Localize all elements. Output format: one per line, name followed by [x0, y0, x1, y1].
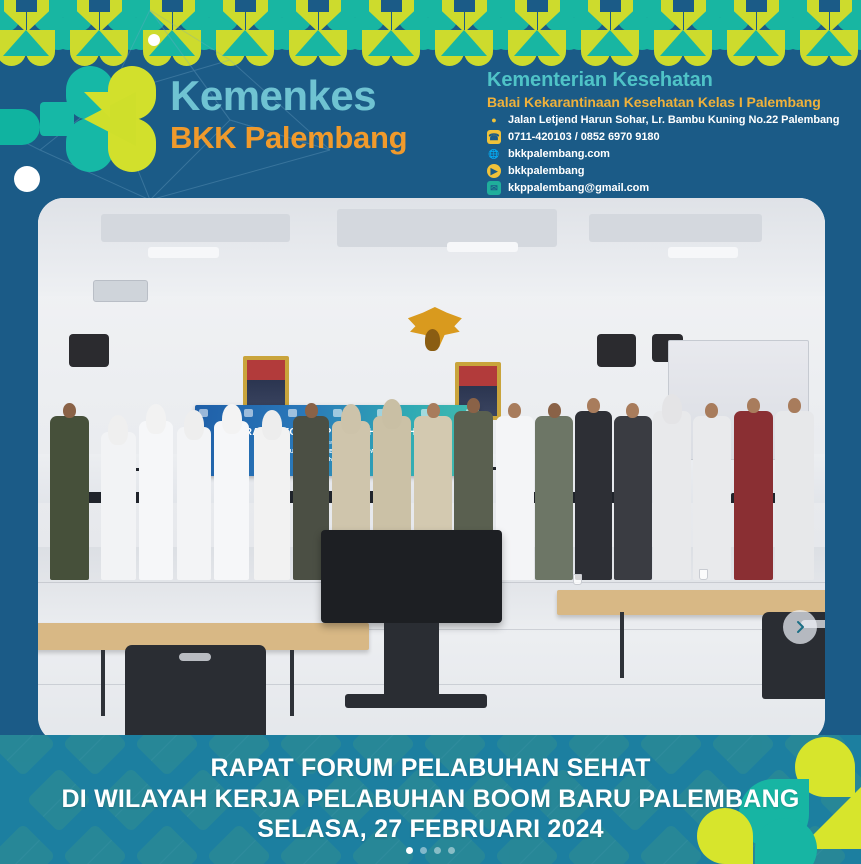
contact-row-address: ● Jalan Letjend Harun Sohar, Lr. Bambu K… — [487, 113, 857, 127]
network-dot — [14, 166, 40, 192]
ministry-name: Kementerian Kesehatan — [487, 68, 857, 92]
phone-text: 0711-420103 / 0852 6970 9180 — [508, 131, 660, 143]
monitor-stand-column — [384, 623, 439, 699]
attendee-hijab — [382, 399, 402, 429]
speaker-icon — [597, 334, 636, 367]
ac-unit — [93, 280, 148, 302]
tv-monitor — [321, 530, 502, 623]
attendee-head — [788, 398, 801, 413]
phone-icon: ☎ — [487, 130, 501, 144]
attendee — [653, 411, 691, 580]
address-text: Jalan Letjend Harun Sohar, Lr. Bambu Kun… — [508, 114, 839, 126]
table-leg — [620, 612, 624, 677]
garuda-body — [425, 329, 440, 351]
batik-petal-unit — [720, 0, 793, 66]
caption-line-2: DI WILAYAH KERJA PELABUHAN BOOM BARU PAL… — [0, 784, 861, 815]
header-section: Kemenkes BKK Palembang Kementerian Keseh… — [0, 0, 861, 198]
attendee-hijab — [662, 394, 682, 424]
brand-title: Kemenkes — [170, 72, 376, 120]
batik-petal-unit — [793, 0, 861, 66]
website-text[interactable]: bkkpalembang.com — [508, 148, 610, 160]
attendee-head — [508, 403, 521, 418]
attendee — [50, 416, 89, 580]
attendee — [775, 411, 814, 580]
attendee-head — [427, 403, 440, 418]
drinking-cup — [573, 574, 582, 585]
ceiling-light — [148, 247, 219, 258]
pagination-dot-3[interactable] — [434, 847, 441, 854]
ceiling-panel — [101, 214, 290, 241]
attendee-hijab — [146, 404, 166, 434]
pagination-dot-1[interactable] — [406, 847, 413, 854]
caption-text: RAPAT FORUM PELABUHAN SEHAT DI WILAYAH K… — [0, 753, 861, 845]
attendee — [254, 427, 290, 580]
attendee-hijab — [262, 410, 282, 440]
attendee — [693, 416, 731, 580]
ceiling-light — [447, 242, 518, 253]
attendee-hijab — [108, 415, 128, 445]
attendee — [214, 421, 249, 579]
caption-line-3: SELASA, 27 FEBRUARI 2024 — [0, 814, 861, 845]
attendee-head — [747, 398, 760, 413]
attendee-hijab — [184, 410, 204, 440]
attendee — [535, 416, 573, 580]
office-name: Balai Kekarantinaan Kesehatan Kelas I Pa… — [487, 94, 857, 110]
attendee-hijab — [222, 404, 242, 434]
carousel-pagination-dots[interactable] — [0, 847, 861, 854]
pagination-dot-2[interactable] — [420, 847, 427, 854]
contact-row-phone: ☎ 0711-420103 / 0852 6970 9180 — [487, 130, 857, 144]
attendee-head — [626, 403, 639, 418]
contact-block: Kementerian Kesehatan Balai Kekarantinaa… — [487, 68, 857, 195]
table-leg — [101, 650, 105, 715]
contact-row-youtube[interactable]: ▶ bkkpalembang — [487, 164, 857, 178]
ceiling-panel — [589, 214, 762, 241]
attendee-head — [548, 403, 561, 418]
attendee — [139, 421, 174, 579]
brand-logo-block: Kemenkes BKK Palembang — [62, 66, 462, 176]
ceiling-panel — [337, 209, 557, 247]
attendee — [575, 411, 613, 580]
mail-icon: ✉ — [487, 181, 501, 195]
event-photo[interactable]: RAPAT FORUM PELABUHAN SEHAT Dalam Rangka… — [38, 198, 825, 743]
poster-slide: Kemenkes BKK Palembang Kementerian Keseh… — [0, 0, 861, 864]
batik-petal-unit — [501, 0, 574, 66]
attendee-head — [305, 403, 318, 418]
table-leg — [290, 650, 294, 715]
batik-petal-unit — [574, 0, 647, 66]
pagination-dot-4[interactable] — [448, 847, 455, 854]
attendee-head — [705, 403, 718, 418]
youtube-text[interactable]: bkkpalembang — [508, 165, 584, 177]
attendee — [734, 411, 773, 580]
attendee-head — [467, 398, 480, 413]
attendee — [101, 432, 136, 579]
email-text[interactable]: kkppalembang@gmail.com — [508, 182, 649, 194]
attendee-head — [63, 403, 76, 418]
attendee-head — [587, 398, 600, 413]
location-pin-icon: ● — [487, 113, 501, 127]
contact-row-email[interactable]: ✉ kkppalembang@gmail.com — [487, 181, 857, 195]
globe-icon: 🌐 — [487, 147, 501, 161]
caption-line-1: RAPAT FORUM PELABUHAN SEHAT — [0, 753, 861, 784]
chevron-right-icon — [793, 620, 807, 634]
caption-band: RAPAT FORUM PELABUHAN SEHAT DI WILAYAH K… — [0, 735, 861, 864]
chair — [125, 645, 267, 738]
monitor-stand-base — [345, 694, 487, 708]
kemenkes-logo-icon — [62, 66, 160, 172]
speaker-icon — [69, 334, 108, 367]
carousel-next-button[interactable] — [783, 610, 817, 644]
batik-petal-unit — [647, 0, 720, 66]
ceiling-light — [668, 247, 739, 258]
network-dot — [148, 34, 160, 46]
teal-tab-decoration — [0, 109, 40, 145]
drinking-cup — [699, 569, 708, 580]
attendee — [177, 427, 212, 580]
attendee — [614, 416, 652, 580]
play-icon: ▶ — [487, 164, 501, 178]
attendee-hijab — [341, 404, 361, 434]
brand-subtitle: BKK Palembang — [170, 120, 407, 156]
contact-row-website[interactable]: 🌐 bkkpalembang.com — [487, 147, 857, 161]
